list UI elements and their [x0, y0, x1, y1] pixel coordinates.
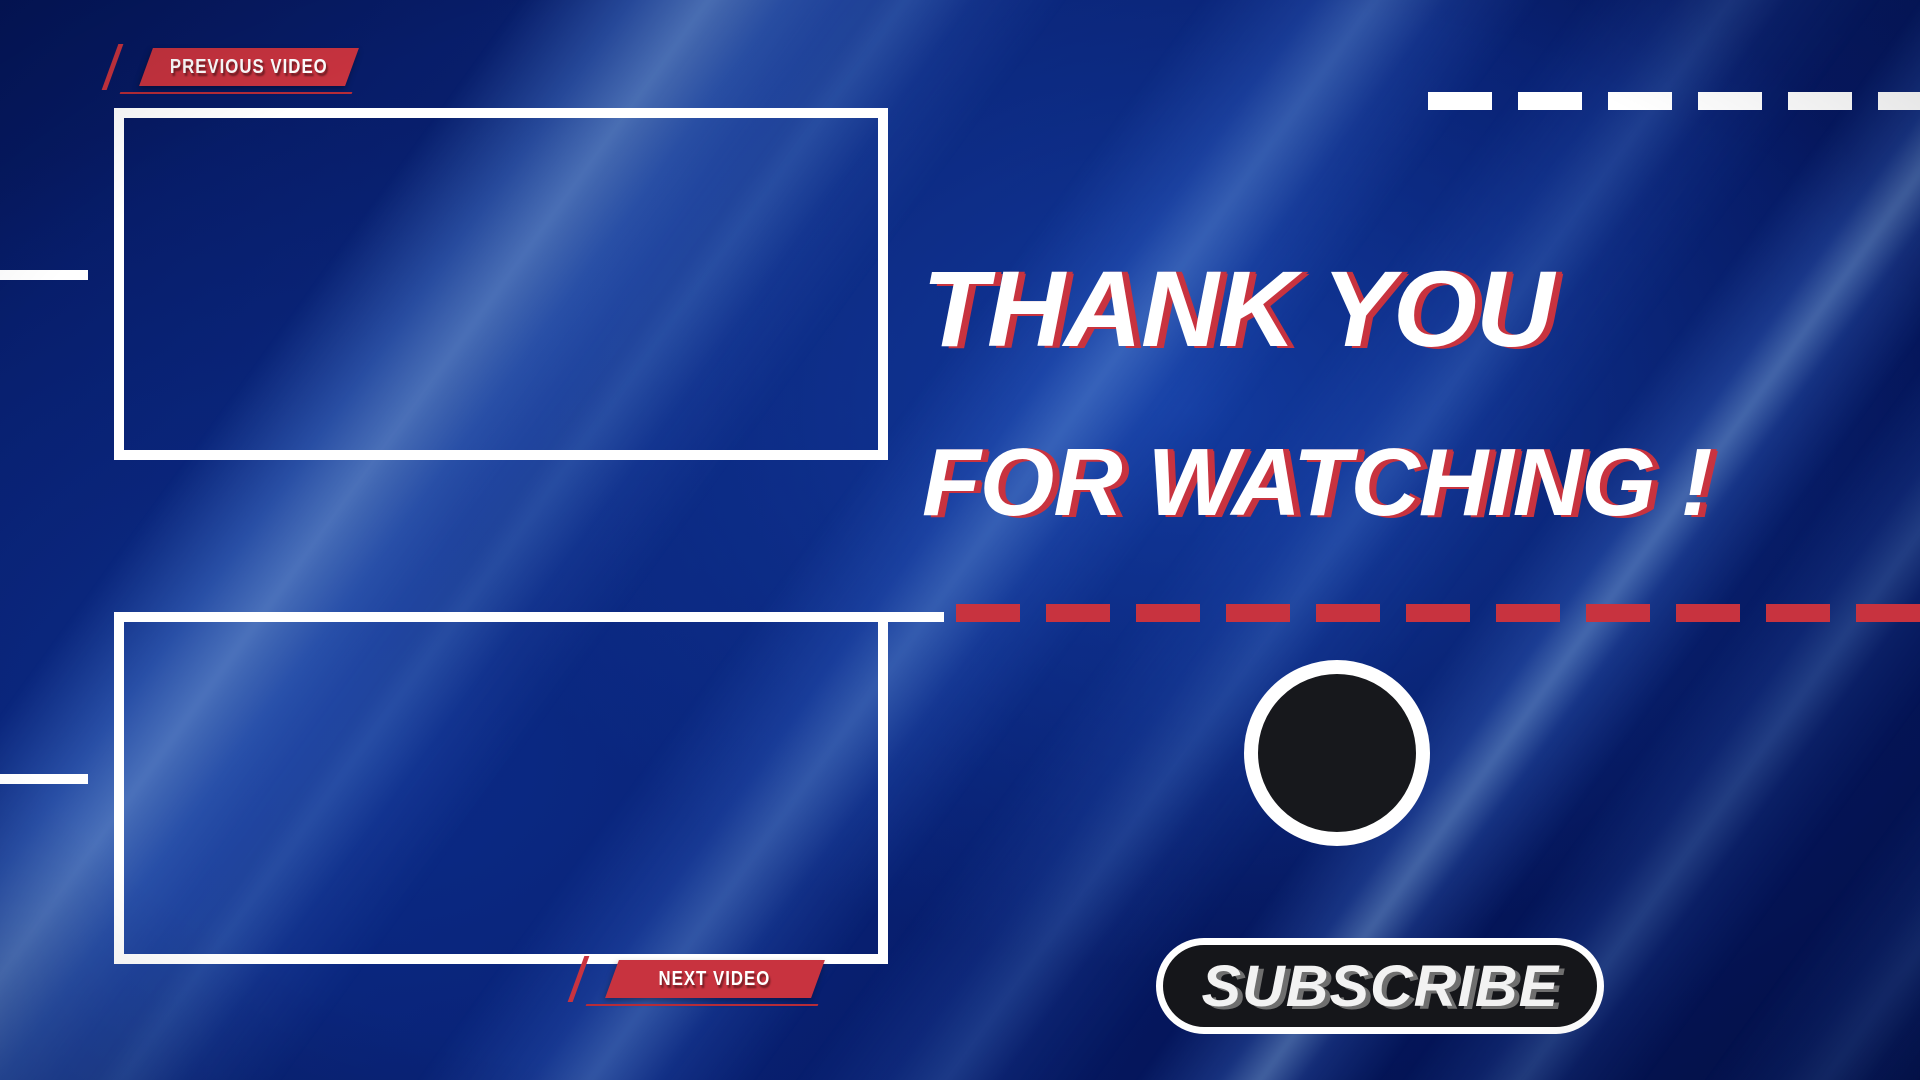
previous-slot-left-connector [0, 270, 88, 280]
subscribe-button[interactable]: SUBSCRIBE [1156, 938, 1604, 1034]
dash-segment [1608, 92, 1672, 110]
channel-avatar-icon[interactable] [1244, 660, 1430, 846]
dash-segment [1518, 92, 1582, 110]
white-dashed-rule [1428, 92, 1920, 110]
next-video-ribbon[interactable]: NEXT VIDEO [605, 960, 825, 998]
dash-segment [1046, 604, 1110, 622]
next-video-slot[interactable] [114, 612, 888, 964]
dash-segment [1676, 604, 1740, 622]
previous-video-ribbon[interactable]: PREVIOUS VIDEO [139, 48, 359, 86]
subscribe-button-label: SUBSCRIBE [1201, 953, 1559, 1020]
dash-segment [1496, 604, 1560, 622]
dash-segment [1586, 604, 1650, 622]
dash-segment [1788, 92, 1852, 110]
next-slot-top-connector [888, 612, 944, 622]
dash-segment [1136, 604, 1200, 622]
dash-segment [956, 604, 1020, 622]
next-ribbon-underline [586, 1004, 819, 1006]
dash-segment [1878, 92, 1920, 110]
dash-segment [1316, 604, 1380, 622]
dash-segment [1226, 604, 1290, 622]
headline-line-two: FOR WATCHING ! [922, 435, 1711, 531]
next-video-label: NEXT VIDEO [659, 968, 771, 991]
dash-segment [1698, 92, 1762, 110]
next-slot-left-connector [0, 774, 88, 784]
headline-line-one: THANK YOU [922, 255, 1553, 363]
previous-video-slot[interactable] [114, 108, 888, 460]
end-screen-canvas: PREVIOUS VIDEO NEXT VIDEO THANK YOU FOR … [0, 0, 1920, 1080]
dash-segment [1766, 604, 1830, 622]
previous-video-label: PREVIOUS VIDEO [170, 56, 328, 79]
dash-segment [1856, 604, 1920, 622]
previous-ribbon-underline [120, 92, 353, 94]
dash-segment [1428, 92, 1492, 110]
red-dashed-rule [956, 604, 1920, 622]
dash-segment [1406, 604, 1470, 622]
